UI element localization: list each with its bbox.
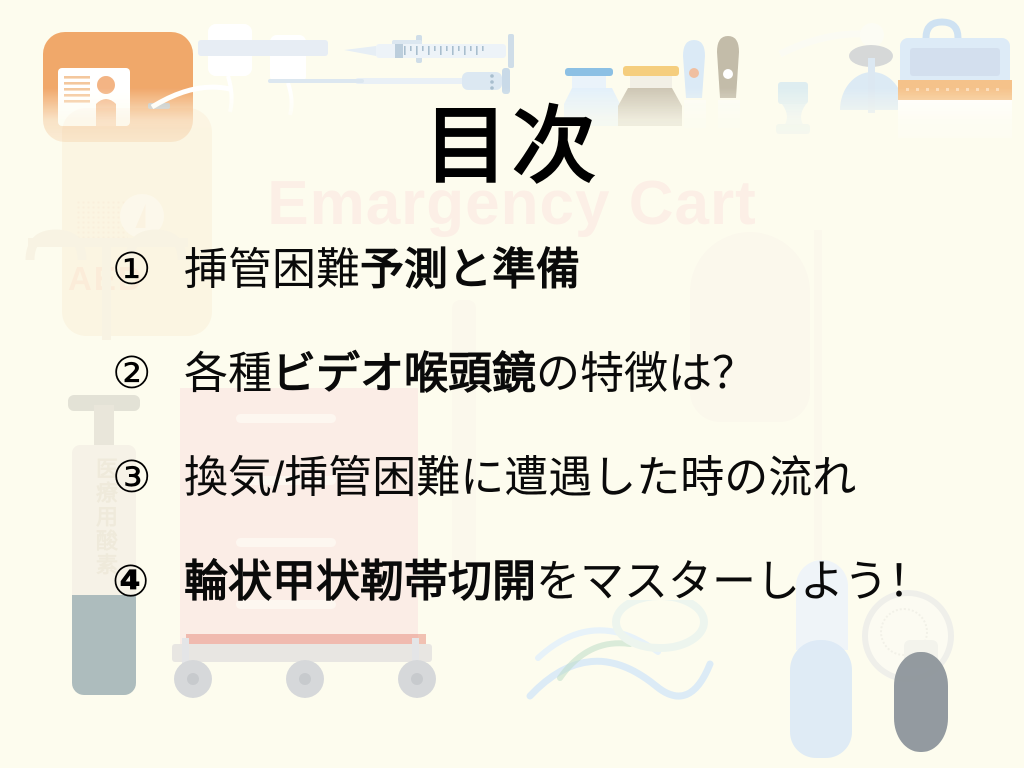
list-item-text-plain-before: 挿管困難 — [184, 245, 360, 294]
list-item[interactable]: ④ 輪状甲状靭帯切開をマスターしよう！ — [112, 560, 992, 664]
list-item-number: ④ — [112, 560, 184, 604]
list-item-text-bold: 輪状甲状靭帯切開 — [184, 557, 536, 606]
list-item-text-plain-after: をマスターしよう！ — [536, 557, 932, 606]
list-item[interactable]: ③ 換気/挿管困難に遭遇した時の流れ — [112, 456, 992, 560]
page-title: 目次 — [0, 104, 1024, 188]
list-item[interactable]: ① 挿管困難予測と準備 — [112, 248, 992, 352]
list-item-number: ③ — [112, 456, 184, 500]
list-item-number: ② — [112, 352, 184, 396]
slide-canvas: AED 医療用酸素 — [0, 0, 1024, 768]
list-item-label: 各種ビデオ喉頭鏡の特徴は？ — [184, 352, 756, 396]
slide-content: 目次 ① 挿管困難予測と準備 ② 各種ビデオ喉頭鏡の特徴は？ ③ 換気/挿管困難… — [0, 0, 1024, 768]
list-item-number: ① — [112, 248, 184, 292]
table-of-contents-list: ① 挿管困難予測と準備 ② 各種ビデオ喉頭鏡の特徴は？ ③ 換気/挿管困難に遭遇… — [112, 248, 992, 664]
list-item-text-plain-before: 換気/挿管困難に遭遇した時の流れ — [184, 453, 856, 502]
list-item-text-bold: ビデオ喉頭鏡 — [272, 349, 536, 398]
list-item-text-plain-after: の特徴は？ — [536, 349, 756, 398]
list-item-label: 換気/挿管困難に遭遇した時の流れ — [184, 456, 856, 500]
list-item-text-bold: 予測と準備 — [360, 245, 580, 294]
list-item[interactable]: ② 各種ビデオ喉頭鏡の特徴は？ — [112, 352, 992, 456]
list-item-text-plain-before: 各種 — [184, 349, 272, 398]
list-item-label: 輪状甲状靭帯切開をマスターしよう！ — [184, 560, 932, 604]
list-item-label: 挿管困難予測と準備 — [184, 248, 580, 292]
